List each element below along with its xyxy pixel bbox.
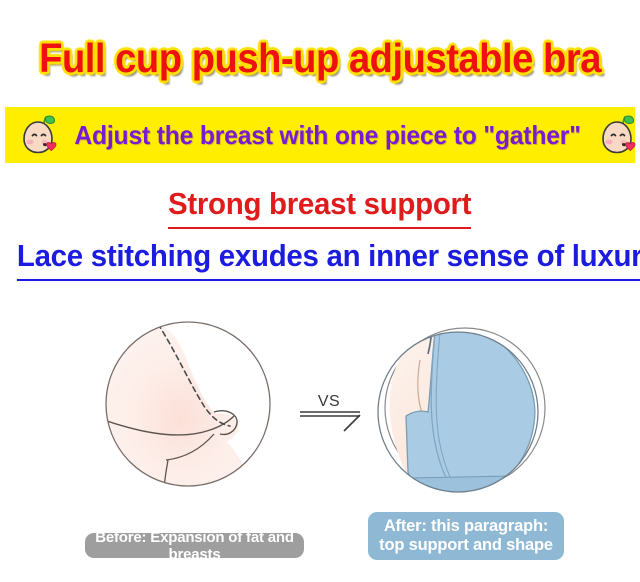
before-caption-text: Before: Expansion of fat and breasts	[85, 529, 304, 563]
page-title-text: Full cup push-up adjustable bra	[39, 38, 601, 79]
subhead-lace-stitching-text: Lace stitching exudes an inner sense of …	[17, 238, 640, 281]
banner-text: Adjust the breast with one piece to "gat…	[74, 120, 580, 151]
kissing-face-with-heart-emoji	[594, 112, 640, 158]
vs-divider: VS	[298, 393, 360, 441]
kissing-face-with-heart-emoji	[15, 112, 61, 158]
breast-profile-with-bra-illustration	[378, 320, 545, 492]
breast-profile-unsupported-illustration	[98, 322, 270, 496]
subhead-lace-stitching: Lace stitching exudes an inner sense of …	[0, 238, 640, 281]
after-caption-badge: After: this paragraph: top support and s…	[368, 512, 564, 560]
before-caption-badge: Before: Expansion of fat and breasts	[85, 533, 304, 558]
vs-label: VS	[298, 393, 360, 411]
subhead-strong-support: Strong breast support	[0, 186, 640, 229]
after-caption-text: After: this paragraph: top support and s…	[374, 517, 558, 555]
promo-poster: Full cup push-up adjustable bra	[0, 0, 640, 582]
subhead-strong-support-text: Strong breast support	[168, 186, 471, 229]
highlight-banner: Adjust the breast with one piece to "gat…	[5, 107, 635, 163]
page-title: Full cup push-up adjustable bra	[0, 38, 640, 79]
